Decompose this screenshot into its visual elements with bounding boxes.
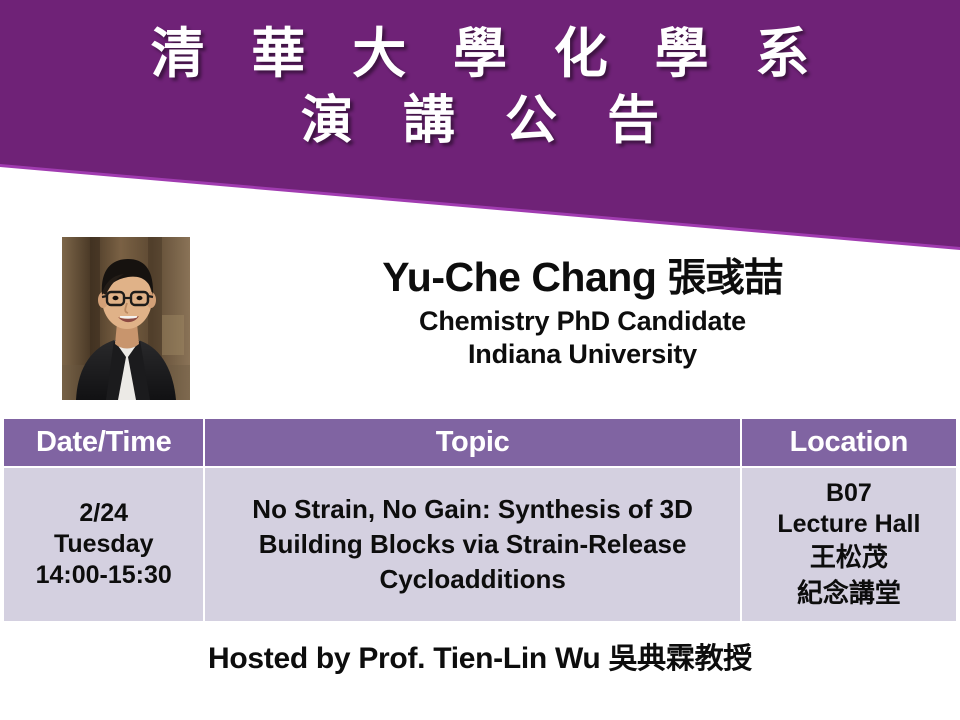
speaker-affiliation: Indiana University	[205, 338, 960, 371]
host-line: Hosted by Prof. Tien-Lin Wu 吳典霖教授	[0, 635, 960, 677]
host-text-cjk: 吳典霖教授	[608, 641, 752, 675]
seminar-info-table: Date/Time Topic Location 2/24 Tuesday 14…	[2, 417, 958, 623]
weekday-value: Tuesday	[8, 529, 199, 560]
location-venue-cjk-2: 紀念講堂	[746, 576, 952, 612]
speaker-name: Yu-Che Chang 張彧喆	[205, 252, 960, 303]
table-header-row: Date/Time Topic Location	[4, 419, 956, 466]
cell-topic: No Strain, No Gain: Synthesis of 3D Buil…	[205, 468, 739, 621]
column-header-date-time: Date/Time	[4, 419, 203, 466]
speaker-name-cjk: 張彧喆	[667, 255, 783, 301]
date-value: 2/24	[8, 498, 199, 529]
speaker-photo	[62, 237, 190, 400]
location-room: B07	[746, 478, 952, 509]
location-venue-cjk-1: 王松茂	[746, 540, 952, 576]
speaker-info: Yu-Che Chang 張彧喆 Chemistry PhD Candidate…	[205, 252, 960, 371]
speaker-portrait-image	[62, 237, 190, 400]
location-venue: Lecture Hall	[746, 509, 952, 540]
column-header-topic: Topic	[205, 419, 739, 466]
table-row: 2/24 Tuesday 14:00-15:30 No Strain, No G…	[4, 468, 956, 621]
cell-location: B07 Lecture Hall 王松茂 紀念講堂	[742, 468, 956, 621]
speaker-name-en: Yu-Che Chang	[382, 254, 656, 300]
time-value: 14:00-15:30	[8, 560, 199, 591]
host-text-en: Hosted by Prof. Tien-Lin Wu	[208, 642, 609, 675]
header-banner	[0, 0, 960, 250]
speaker-role: Chemistry PhD Candidate	[205, 305, 960, 338]
cell-date-time: 2/24 Tuesday 14:00-15:30	[4, 468, 203, 621]
column-header-location: Location	[742, 419, 956, 466]
